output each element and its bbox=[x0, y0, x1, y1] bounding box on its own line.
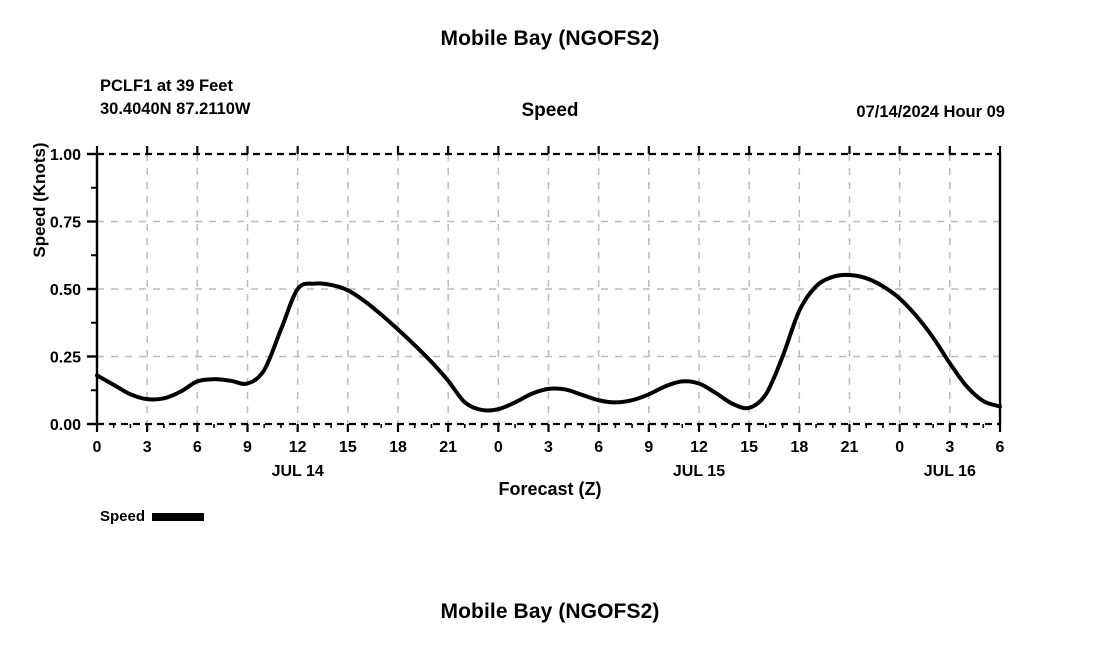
x-axis-day-label: JUL 15 bbox=[673, 463, 725, 480]
x-axis-tick-label: 6 bbox=[996, 439, 1005, 456]
x-axis-tick-label: 21 bbox=[439, 439, 457, 456]
speed-time-series-chart: 0369121518210369121518210360.000.250.500… bbox=[0, 0, 1100, 650]
x-axis-label: Forecast (Z) bbox=[0, 479, 1100, 500]
x-axis-tick-label: 0 bbox=[93, 439, 102, 456]
chart-legend: Speed bbox=[100, 508, 204, 525]
x-axis-day-label: JUL 14 bbox=[272, 463, 324, 480]
x-axis-tick-label: 0 bbox=[895, 439, 904, 456]
chart-page: Mobile Bay (NGOFS2) PCLF1 at 39 Feet 30.… bbox=[0, 0, 1100, 650]
x-axis-tick-label: 0 bbox=[494, 439, 503, 456]
page-title-bottom: Mobile Bay (NGOFS2) bbox=[0, 600, 1100, 624]
x-axis-tick-label: 18 bbox=[389, 439, 407, 456]
y-axis-tick-label: 0.00 bbox=[50, 417, 81, 434]
legend-swatch-speed bbox=[152, 513, 204, 521]
y-axis-tick-label: 1.00 bbox=[50, 147, 81, 164]
x-axis-tick-label: 9 bbox=[644, 439, 653, 456]
x-axis-tick-label: 12 bbox=[289, 439, 307, 456]
y-axis-tick-label: 0.50 bbox=[50, 282, 81, 299]
x-axis-tick-label: 3 bbox=[544, 439, 553, 456]
x-axis-tick-label: 18 bbox=[790, 439, 808, 456]
x-axis-tick-label: 6 bbox=[193, 439, 202, 456]
x-axis-tick-label: 12 bbox=[690, 439, 708, 456]
x-axis-tick-label: 9 bbox=[243, 439, 252, 456]
y-axis-tick-label: 0.25 bbox=[50, 350, 81, 367]
x-axis-day-label: JUL 16 bbox=[924, 463, 976, 480]
x-axis-tick-label: 21 bbox=[841, 439, 859, 456]
x-axis-tick-label: 3 bbox=[143, 439, 152, 456]
x-axis-tick-label: 15 bbox=[740, 439, 758, 456]
x-axis-tick-label: 3 bbox=[945, 439, 954, 456]
x-axis-tick-label: 6 bbox=[594, 439, 603, 456]
legend-label-speed: Speed bbox=[100, 508, 145, 525]
y-axis-tick-label: 0.75 bbox=[50, 215, 81, 232]
x-axis-tick-label: 15 bbox=[339, 439, 357, 456]
